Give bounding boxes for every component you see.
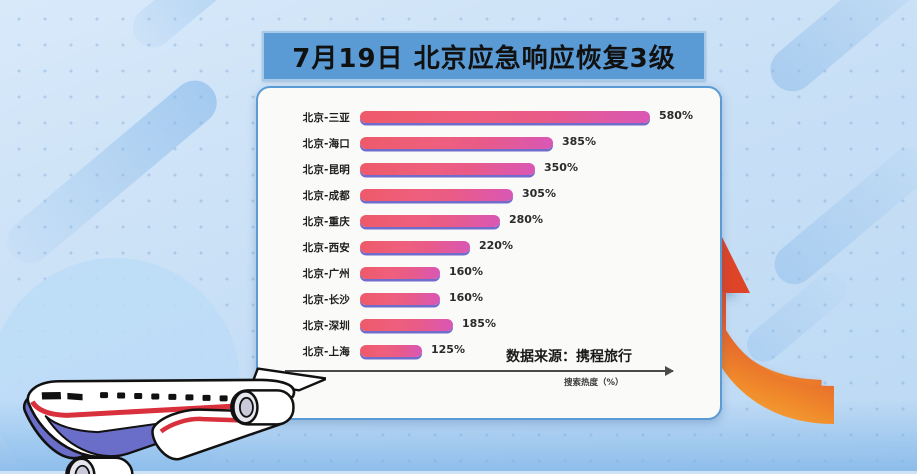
chart-value-label: 280% [509,213,543,226]
chart-bar-track: 280% [360,208,710,234]
chart-bar [360,189,513,201]
chart-bar-row: 北京-海口385% [272,130,710,156]
chart-bar [360,319,453,331]
chart-bar-row: 北京-上海125% [272,338,710,364]
chart-x-axis-label: 搜索热度（%） [564,376,624,388]
chart-bar-track: 385% [360,130,710,156]
chart-value-label: 385% [562,135,596,148]
data-source-note: 数据来源：携程旅行 [506,346,632,366]
chart-category-label: 北京-三亚 [272,110,350,125]
chart-bar [360,137,553,149]
bar-chart: 北京-三亚580%北京-海口385%北京-昆明350%北京-成都305%北京-重… [258,88,720,418]
chart-value-label: 305% [522,187,556,200]
page-title-bar: 7月19日 北京应急响应恢复3级 [262,31,706,81]
chart-value-label: 185% [462,317,496,330]
chart-bar [360,241,470,253]
chart-bar-row: 北京-西安220% [272,234,710,260]
chart-value-label: 580% [659,109,693,122]
chart-bar [360,293,440,305]
chart-bar-row: 北京-成都305% [272,182,710,208]
chart-bar-row: 北京-广州160% [272,260,710,286]
chart-bar-track: 350% [360,156,710,182]
chart-x-axis [285,370,673,372]
chart-bar [360,267,440,279]
chart-bar [360,345,422,357]
chart-bar [360,163,535,175]
chart-value-label: 160% [449,265,483,278]
chart-value-label: 125% [431,343,465,356]
airplane-illustration [0,274,326,474]
chart-bar-row: 北京-昆明350% [272,156,710,182]
chart-category-label: 北京-昆明 [272,162,350,177]
chart-category-label: 北京-重庆 [272,214,350,229]
chart-bar-track: 580% [360,104,710,130]
chart-bar-row: 北京-三亚580% [272,104,710,130]
chart-category-label: 北京-西安 [272,240,350,255]
chart-bar-row: 北京-深圳185% [272,312,710,338]
chart-bar-track: 160% [360,260,710,286]
chart-bar-row: 北京-重庆280% [272,208,710,234]
page-title: 7月19日 北京应急响应恢复3级 [292,38,675,75]
chart-category-label: 北京-成都 [272,188,350,203]
chart-bar [360,215,500,227]
chart-bar-track: 185% [360,312,710,338]
chart-bar-row: 北京-长沙160% [272,286,710,312]
chart-bar [360,111,650,123]
chart-value-label: 160% [449,291,483,304]
chart-value-label: 220% [479,239,513,252]
chart-bar-track: 160% [360,286,710,312]
chart-bar-track: 305% [360,182,710,208]
chart-bar-track: 220% [360,234,710,260]
chart-category-label: 北京-海口 [272,136,350,151]
chart-value-label: 350% [544,161,578,174]
